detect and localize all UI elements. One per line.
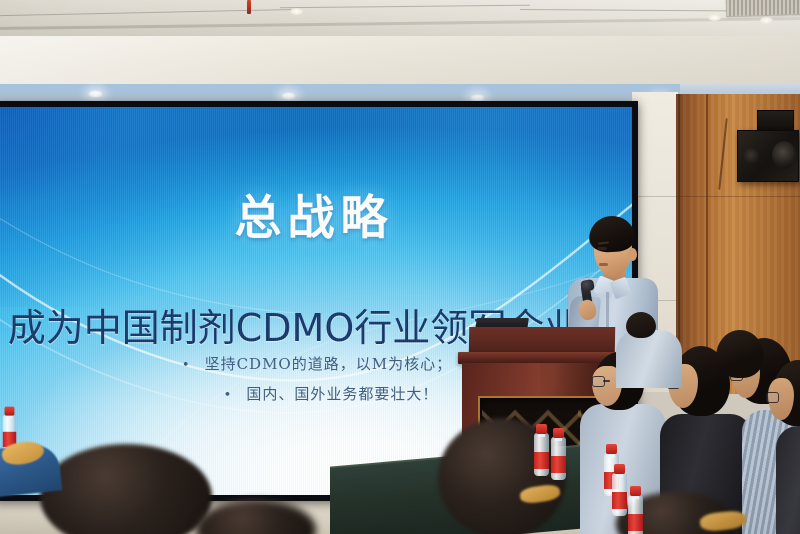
- side-wall-seam: [632, 196, 678, 197]
- speaker-driver: [772, 141, 796, 169]
- conference-photo: 总战略 成为中国制剂CDMO行业领军企业！ •坚持CDMO的道路，以M为核心； …: [0, 0, 800, 534]
- bullet-marker-icon: •: [224, 388, 233, 403]
- attendee-body: [776, 426, 800, 534]
- bottle-cap: [606, 444, 617, 454]
- bottle-cap: [5, 407, 15, 416]
- bullet-marker-icon: •: [182, 358, 191, 373]
- eyeglasses-bridge: [603, 380, 610, 382]
- downlight: [281, 92, 296, 100]
- ceiling-light: [760, 17, 773, 24]
- ceiling-light: [708, 14, 721, 21]
- water-bottle: [628, 486, 643, 534]
- presenter-eye: [598, 247, 607, 250]
- slide-bullet-text: 坚持CDMO的道路，以M为核心；: [205, 355, 453, 373]
- downlight: [88, 90, 103, 98]
- slide-title: 总战略: [0, 179, 632, 248]
- ceiling-light: [290, 8, 303, 15]
- speaker-control-unit: [757, 110, 794, 132]
- bottle-label: [628, 514, 643, 531]
- water-bottle: [551, 428, 566, 480]
- water-bottle: [534, 424, 549, 476]
- bottle-cap: [553, 428, 564, 438]
- bottle-cap: [614, 464, 625, 474]
- bottle-label: [534, 452, 549, 469]
- air-conditioning-vent-icon: [726, 0, 800, 17]
- attendee-hair: [626, 312, 656, 338]
- slide-bullet-text: 国内、国外业务都要壮大！: [246, 385, 438, 403]
- bottle-label: [551, 456, 566, 473]
- wood-panel-line: [676, 196, 800, 197]
- bottle-label: [612, 492, 627, 509]
- water-bottle: [612, 464, 627, 516]
- eyeglasses-icon: [766, 392, 779, 403]
- bottle-cap: [630, 486, 641, 496]
- speaker-driver: [744, 148, 759, 165]
- attendee-hair: [716, 330, 764, 378]
- ceiling-marker: [247, 0, 251, 14]
- attendee-body: [616, 330, 682, 388]
- lectern-top: [469, 327, 615, 355]
- bottle-cap: [536, 424, 547, 434]
- presenter-mouth: [599, 263, 608, 266]
- presenter-ear: [628, 248, 637, 261]
